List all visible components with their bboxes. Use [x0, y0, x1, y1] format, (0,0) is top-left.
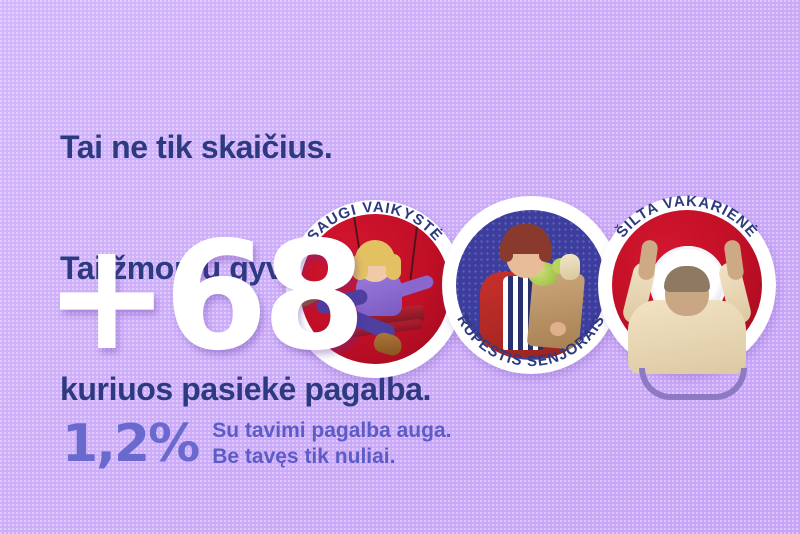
badge-silta-vakariene: ŠILTA VAKARIENĖ	[598, 196, 776, 374]
headline-line-1: Tai ne tik skaičius.	[60, 127, 431, 167]
footer-line-2: Be tavęs tik nuliai.	[212, 444, 451, 470]
badge-rupestis-senjorais: RŪPESTIS SENJORAIS	[442, 196, 620, 374]
badge-saugi-vaikyste: SAUGI VAIKYSTĖ	[286, 200, 464, 378]
badge-2-disc	[456, 210, 606, 360]
campaign-banner: Tai ne tik skaičius. Tai žmonių gyvenima…	[0, 0, 800, 534]
footer-text: Su tavimi pagalba auga. Be tavęs tik nul…	[212, 418, 451, 470]
child-on-swing-illustration	[300, 214, 450, 364]
percent-value: 1,2%	[62, 418, 198, 470]
man-with-plate-figure	[598, 196, 776, 374]
badge-row: SAUGI VAIKYSTĖ	[286, 196, 786, 396]
footer-line-1: Su tavimi pagalba auga.	[212, 418, 451, 444]
badge-1-disc	[300, 214, 450, 364]
senior-with-groceries-illustration	[456, 210, 606, 360]
footer: 1,2% Su tavimi pagalba auga. Be tavęs ti…	[62, 418, 451, 470]
